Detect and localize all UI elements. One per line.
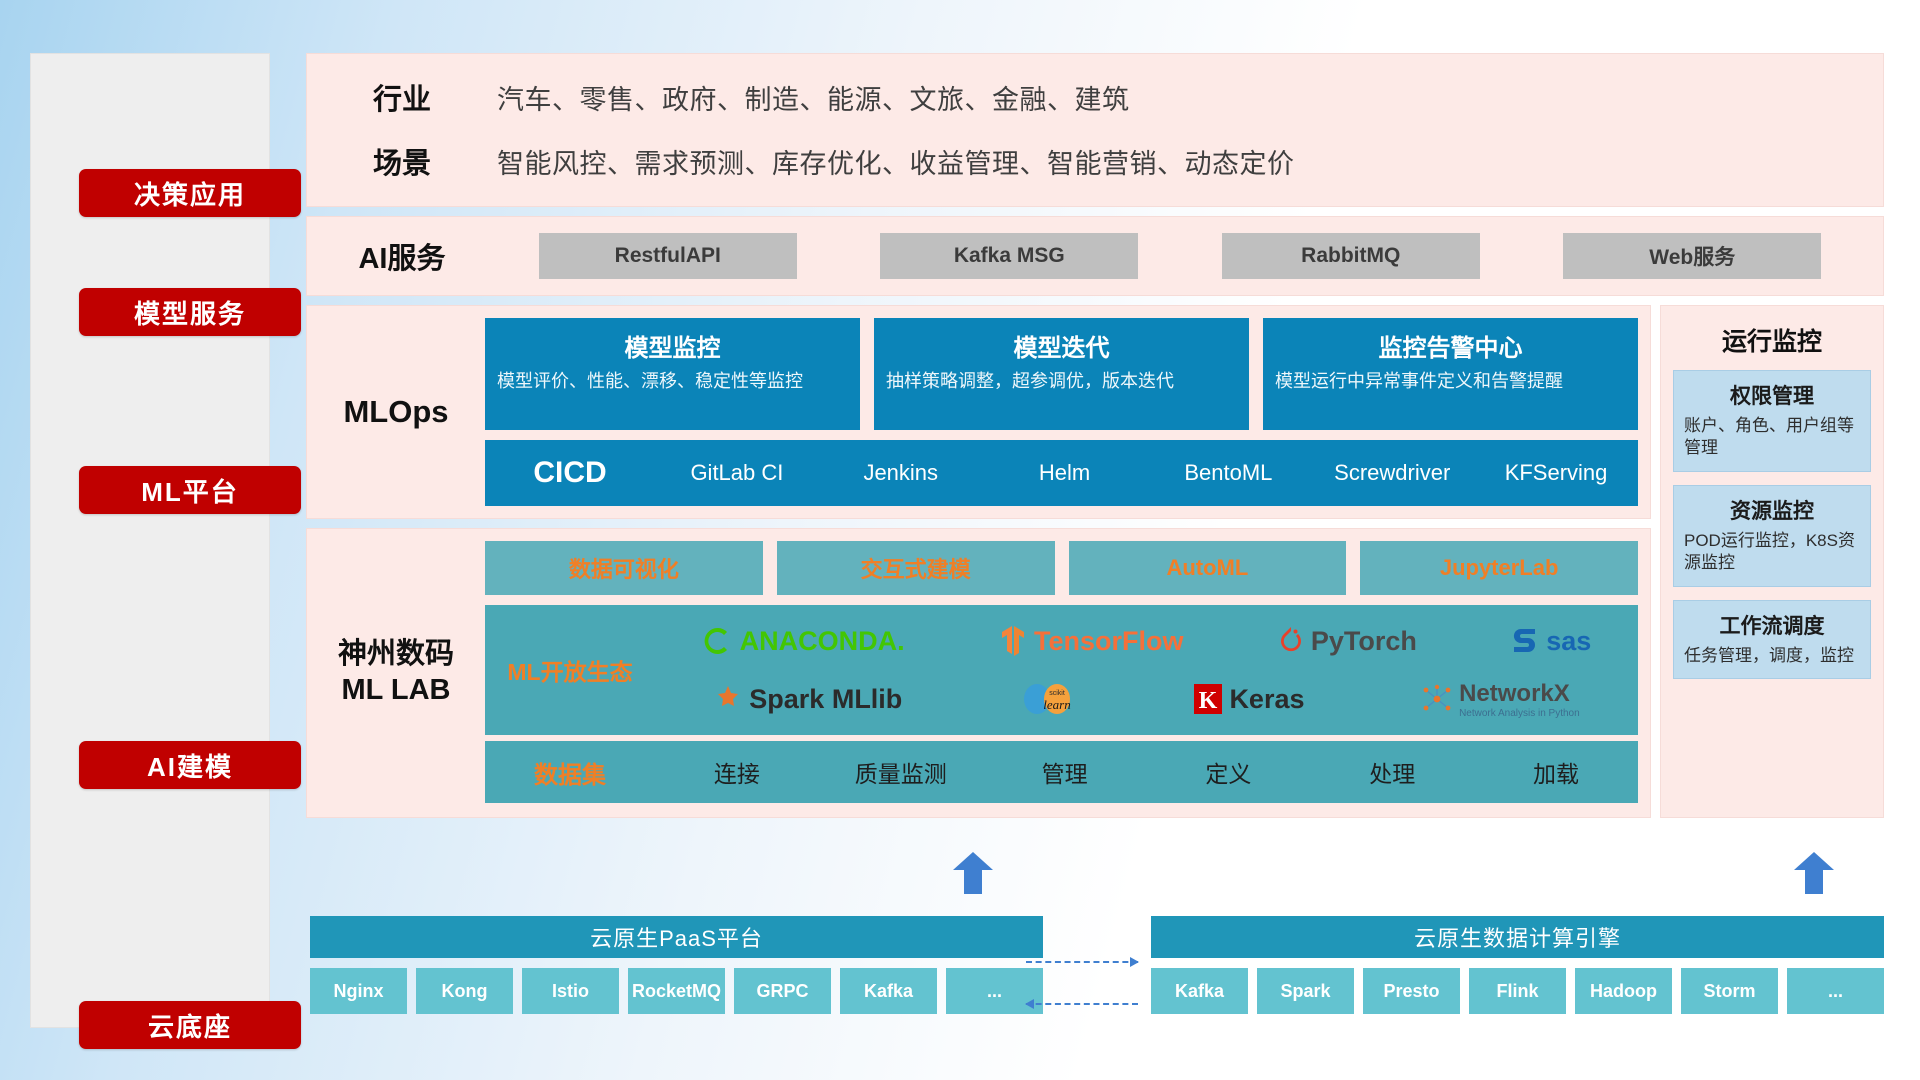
- cicd-item-bentoml[interactable]: BentoML: [1146, 461, 1310, 484]
- cloud-chip-storm[interactable]: Storm: [1681, 968, 1778, 1014]
- dataset-item-definition[interactable]: 定义: [1146, 755, 1310, 789]
- stage-label: AI建模: [147, 747, 233, 784]
- cloud-paas-chips: Nginx Kong Istio RocketMQ GRPC Kafka ...: [310, 968, 1043, 1014]
- cloud-data-engine-group: 云原生数据计算引擎 Kafka Spark Presto Flink Hadoo…: [1151, 916, 1884, 1014]
- ml-lab-label-line1: 神州数码: [307, 636, 485, 672]
- mlops-label: MLOps: [307, 394, 485, 430]
- ai-services-label: AI服务: [307, 235, 497, 277]
- mlops-band: MLOps 模型监控 模型评价、性能、漂移、稳定性等监控 模型迭代 抽样策略调整…: [306, 305, 1651, 519]
- cloud-chip-nginx[interactable]: Nginx: [310, 968, 407, 1014]
- platform-section: MLOps 模型监控 模型评价、性能、漂移、稳定性等监控 模型迭代 抽样策略调整…: [306, 305, 1884, 827]
- card-desc: POD运行监控，K8S资源监控: [1684, 530, 1860, 575]
- industry-value: 汽车、零售、政府、制造、能源、文旅、金融、建筑: [497, 78, 1130, 117]
- cicd-items: GitLab CI Jenkins Helm BentoML Screwdriv…: [655, 461, 1638, 484]
- svg-text:learn: learn: [1043, 697, 1070, 712]
- ml-ecosystem-label: ML开放生态: [485, 653, 655, 687]
- cloud-link-connector: [1026, 955, 1138, 1011]
- lab-tool-data-visualization[interactable]: 数据可视化: [485, 541, 763, 595]
- svg-text:K: K: [1199, 688, 1218, 714]
- cicd-bar: CICD GitLab CI Jenkins Helm BentoML Scre…: [485, 440, 1638, 506]
- stage-label: ML平台: [141, 472, 239, 509]
- networkx-sublabel: Network Analysis in Python: [1459, 708, 1580, 719]
- card-desc: 账户、角色、用户组等管理: [1684, 415, 1860, 460]
- application-row-industry: 行业 汽车、零售、政府、制造、能源、文旅、金融、建筑: [307, 76, 1883, 118]
- cloud-paas-group: 云原生PaaS平台 Nginx Kong Istio RocketMQ GRPC…: [310, 916, 1043, 1014]
- cloud-chip-more-right[interactable]: ...: [1787, 968, 1884, 1014]
- stage-label: 模型服务: [134, 294, 246, 331]
- ai-services-band: AI服务 RestfulAPI Kafka MSG RabbitMQ Web服务: [306, 216, 1884, 296]
- monitor-card-workflow[interactable]: 工作流调度 任务管理，调度，监控: [1673, 600, 1871, 679]
- cicd-label: CICD: [485, 456, 655, 490]
- spark-icon: [713, 685, 743, 713]
- stage-rail: 决策应用 模型服务 ML平台 AI建模 云底座: [30, 53, 270, 1028]
- keras-label: Keras: [1229, 684, 1304, 715]
- card-desc: 模型评价、性能、漂移、稳定性等监控: [497, 370, 848, 393]
- stage-chip-decision-apps[interactable]: 决策应用: [79, 169, 301, 217]
- tensorflow-logo: TensorFlow: [998, 624, 1184, 658]
- ai-service-kafka-msg[interactable]: Kafka MSG: [880, 233, 1138, 279]
- monitor-card-permission[interactable]: 权限管理 账户、角色、用户组等管理: [1673, 370, 1871, 472]
- applications-band: 行业 汽车、零售、政府、制造、能源、文旅、金融、建筑 场景 智能风控、需求预测、…: [306, 53, 1884, 207]
- dataset-bar: 数据集 连接 质量监测 管理 定义 处理 加载: [485, 741, 1638, 803]
- mlops-card-model-monitoring[interactable]: 模型监控 模型评价、性能、漂移、稳定性等监控: [485, 318, 860, 430]
- cicd-item-jenkins[interactable]: Jenkins: [819, 461, 983, 484]
- networkx-label: NetworkX: [1459, 680, 1580, 708]
- sas-logo: sas: [1510, 626, 1591, 657]
- networkx-logo: NetworkX Network Analysis in Python: [1421, 680, 1580, 719]
- cloud-chip-presto[interactable]: Presto: [1363, 968, 1460, 1014]
- pytorch-icon: [1277, 625, 1305, 657]
- anaconda-icon: [702, 625, 734, 657]
- scenario-value: 智能风控、需求预测、库存优化、收益管理、智能营销、动态定价: [497, 142, 1295, 181]
- pytorch-label: PyTorch: [1311, 626, 1417, 657]
- spark-mllib-label: Spark MLlib: [749, 684, 902, 715]
- cicd-item-gitlab-ci[interactable]: GitLab CI: [655, 461, 819, 484]
- cicd-item-kfserving[interactable]: KFServing: [1474, 461, 1638, 484]
- cloud-data-engine-chips: Kafka Spark Presto Flink Hadoop Storm ..…: [1151, 968, 1884, 1014]
- dataset-item-connect[interactable]: 连接: [655, 755, 819, 789]
- cicd-item-helm[interactable]: Helm: [983, 461, 1147, 484]
- ai-service-rabbitmq[interactable]: RabbitMQ: [1222, 233, 1480, 279]
- runtime-monitoring-rail: 运行监控 权限管理 账户、角色、用户组等管理 资源监控 POD运行监控，K8S资…: [1660, 305, 1884, 818]
- networkx-icon: [1421, 684, 1453, 714]
- mlops-card-alert-center[interactable]: 监控告警中心 模型运行中异常事件定义和告警提醒: [1263, 318, 1638, 430]
- card-desc: 任务管理，调度，监控: [1684, 645, 1860, 667]
- card-title: 工作流调度: [1684, 610, 1860, 640]
- main-column: 行业 汽车、零售、政府、制造、能源、文旅、金融、建筑 场景 智能风控、需求预测、…: [306, 53, 1884, 827]
- cloud-chip-istio[interactable]: Istio: [522, 968, 619, 1014]
- card-title: 监控告警中心: [1275, 328, 1626, 363]
- cloud-chip-flink[interactable]: Flink: [1469, 968, 1566, 1014]
- cloud-chip-rocketmq[interactable]: RocketMQ: [628, 968, 725, 1014]
- anaconda-label: ANACONDA.: [740, 626, 905, 657]
- cloud-chip-kong[interactable]: Kong: [416, 968, 513, 1014]
- dataset-item-management[interactable]: 管理: [983, 755, 1147, 789]
- cloud-chip-hadoop[interactable]: Hadoop: [1575, 968, 1672, 1014]
- anaconda-logo: ANACONDA.: [702, 625, 905, 657]
- stage-label: 云底座: [148, 1007, 232, 1044]
- card-desc: 抽样策略调整，超参调优，版本迭代: [886, 370, 1237, 393]
- ai-service-web[interactable]: Web服务: [1563, 233, 1821, 279]
- keras-logo: K Keras: [1193, 683, 1304, 715]
- dataset-item-quality-monitoring[interactable]: 质量监测: [819, 755, 983, 789]
- cicd-item-screwdriver[interactable]: Screwdriver: [1310, 461, 1474, 484]
- stage-chip-ai-modeling[interactable]: AI建模: [79, 741, 301, 789]
- cloud-data-engine-title: 云原生数据计算引擎: [1151, 916, 1884, 958]
- runtime-monitoring-title: 运行监控: [1673, 322, 1871, 358]
- application-row-scenario: 场景 智能风控、需求预测、库存优化、收益管理、智能营销、动态定价: [307, 140, 1883, 182]
- architecture-diagram: 决策应用 模型服务 ML平台 AI建模 云底座 行业 汽车、零售、政府、制造、能…: [0, 0, 1920, 1080]
- mlops-cards: 模型监控 模型评价、性能、漂移、稳定性等监控 模型迭代 抽样策略调整，超参调优，…: [485, 318, 1638, 430]
- cloud-chip-kafka[interactable]: Kafka: [840, 968, 937, 1014]
- cloud-chip-kafka-right[interactable]: Kafka: [1151, 968, 1248, 1014]
- ml-lab-label: 神州数码 ML LAB: [307, 636, 485, 709]
- arrow-up-data-engine-icon: [1794, 852, 1834, 894]
- dataset-label: 数据集: [485, 755, 655, 790]
- ml-lab-label-line2: ML LAB: [307, 672, 485, 708]
- card-title: 权限管理: [1684, 380, 1860, 410]
- stage-chip-cloud-base[interactable]: 云底座: [79, 1001, 301, 1049]
- lab-tool-automl[interactable]: AutoML: [1069, 541, 1347, 595]
- sas-label: sas: [1546, 626, 1591, 657]
- ml-lab-tools: 数据可视化 交互式建模 AutoML JupyterLab: [485, 541, 1638, 595]
- scikit-learn-icon: scikit learn: [1019, 682, 1077, 716]
- scikit-learn-logo: scikit learn: [1019, 682, 1077, 716]
- lab-tool-jupyterlab[interactable]: JupyterLab: [1360, 541, 1638, 595]
- card-title: 模型迭代: [886, 328, 1237, 363]
- arrow-up-paas-icon: [953, 852, 993, 894]
- industry-key: 行业: [307, 76, 497, 118]
- stage-chip-model-service[interactable]: 模型服务: [79, 288, 301, 336]
- lab-tool-interactive-modeling[interactable]: 交互式建模: [777, 541, 1055, 595]
- stage-label: 决策应用: [134, 175, 246, 212]
- cloud-chip-spark[interactable]: Spark: [1257, 968, 1354, 1014]
- stage-chip-ml-platform[interactable]: ML平台: [79, 466, 301, 514]
- ml-lab-band: 神州数码 ML LAB 数据可视化 交互式建模 AutoML JupyterLa…: [306, 528, 1651, 818]
- tensorflow-icon: [998, 624, 1028, 658]
- pytorch-logo: PyTorch: [1277, 625, 1417, 657]
- cloud-paas-title: 云原生PaaS平台: [310, 916, 1043, 958]
- card-desc: 模型运行中异常事件定义和告警提醒: [1275, 370, 1626, 393]
- keras-icon: K: [1193, 683, 1223, 715]
- tensorflow-label: TensorFlow: [1034, 626, 1184, 657]
- sas-icon: [1510, 627, 1540, 655]
- ai-services-items: RestfulAPI Kafka MSG RabbitMQ Web服务: [497, 233, 1883, 279]
- ml-ecosystem: ML开放生态 ANACONDA.: [485, 605, 1638, 735]
- card-title: 资源监控: [1684, 495, 1860, 525]
- mlops-card-model-iteration[interactable]: 模型迭代 抽样策略调整，超参调优，版本迭代: [874, 318, 1249, 430]
- monitor-card-resource[interactable]: 资源监控 POD运行监控，K8S资源监控: [1673, 485, 1871, 587]
- dataset-item-loading[interactable]: 加载: [1474, 755, 1638, 789]
- cloud-chip-grpc[interactable]: GRPC: [734, 968, 831, 1014]
- card-title: 模型监控: [497, 328, 848, 363]
- ai-service-restfulapi[interactable]: RestfulAPI: [539, 233, 797, 279]
- scenario-key: 场景: [307, 140, 497, 182]
- spark-mllib-logo: Spark MLlib: [713, 684, 902, 715]
- svg-text:scikit: scikit: [1049, 690, 1065, 697]
- dataset-item-processing[interactable]: 处理: [1310, 755, 1474, 789]
